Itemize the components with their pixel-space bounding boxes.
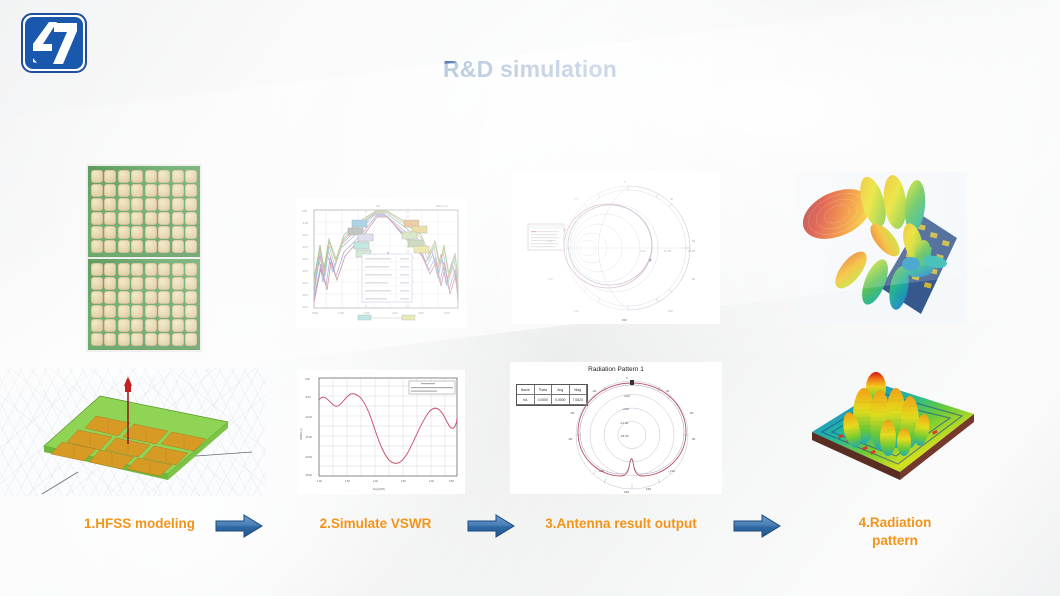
svg-text:-30: -30 xyxy=(592,389,597,393)
svg-text:-5.00: -5.00 xyxy=(305,396,311,399)
svg-text:S11: S11 xyxy=(376,204,381,208)
step-label-1: 1.HFSS modeling xyxy=(52,515,227,533)
svg-text:240: 240 xyxy=(548,239,553,243)
svg-text:2300: 2300 xyxy=(418,311,424,315)
s-parameter-plot-svg: 0.00-5.00-10.0 -15.0-20.0-25.0 -30.0-35.… xyxy=(296,198,466,328)
slide-canvas: R&D simulation xyxy=(0,0,1060,596)
svg-text:120: 120 xyxy=(670,469,675,473)
svg-text:-90: -90 xyxy=(568,437,573,441)
svg-text:1900: 1900 xyxy=(364,311,370,315)
svg-text:60: 60 xyxy=(692,239,696,243)
svg-text:1.50: 1.50 xyxy=(345,480,350,483)
svg-text:2.50: 2.50 xyxy=(401,480,406,483)
radiation-lobes-svg xyxy=(795,172,967,324)
svg-text:Freq [GHz]: Freq [GHz] xyxy=(373,488,385,491)
svg-text:-4.00: -4.00 xyxy=(622,407,629,411)
arrow-step1-to-step2 xyxy=(214,513,264,544)
smith-polar-chart: 0 306090 120150180 210240270 0.0010.0020… xyxy=(512,172,720,324)
radiation-polar-svg: 0 306090 120150180 -120-90-60 -30 3.00-4… xyxy=(510,362,722,494)
svg-text:210: 210 xyxy=(548,277,553,281)
heatmap-svg xyxy=(776,368,996,496)
svg-text:-10.00: -10.00 xyxy=(305,416,312,419)
smith-chart-svg: 0 306090 120150180 210240270 0.0010.0020… xyxy=(512,172,720,324)
svg-text:-20.00: -20.00 xyxy=(305,456,312,459)
radiation-pattern-polar-chart: Radiation Pattern 1 Name Theta Ang Mag m… xyxy=(510,362,722,494)
svg-text:-120: -120 xyxy=(598,469,604,473)
svg-text:10.00: 10.00 xyxy=(664,249,671,253)
svg-text:30: 30 xyxy=(670,197,674,201)
svg-text:270: 270 xyxy=(574,197,579,201)
svg-text:-11.00: -11.00 xyxy=(620,421,629,425)
svg-text:-20.0: -20.0 xyxy=(302,257,308,261)
pcb-panel-bottom xyxy=(88,259,200,350)
s-parameter-multitrace-chart: 0.00-5.00-10.0 -15.0-20.0-25.0 -30.0-35.… xyxy=(296,198,466,328)
svg-text:1500: 1500 xyxy=(312,311,318,315)
svg-text:-25.00: -25.00 xyxy=(305,474,312,477)
arrow-step3-to-step4 xyxy=(732,513,782,544)
vswr-return-loss-chart: 0.00-5.00-10.00 -15.00-20.00-25.00 1.001… xyxy=(297,370,465,494)
svg-text:dB(St(1,1)): dB(St(1,1)) xyxy=(300,428,303,440)
svg-text:3.00: 3.00 xyxy=(624,394,630,398)
svg-text:150: 150 xyxy=(622,318,627,322)
hfss-3d-model xyxy=(0,368,266,496)
pad-grid-bottom xyxy=(91,263,197,346)
svg-text:-30.0: -30.0 xyxy=(302,281,308,285)
svg-text:2500: 2500 xyxy=(444,311,450,315)
right-arrow-icon xyxy=(466,513,516,539)
svg-text:-60: -60 xyxy=(570,411,575,415)
svg-text:120: 120 xyxy=(668,309,673,313)
3d-radiation-heatmap xyxy=(776,368,996,496)
svg-text:180: 180 xyxy=(624,490,629,494)
svg-text:180: 180 xyxy=(574,309,579,313)
vswr-plot-svg: 0.00-5.00-10.00 -15.00-20.00-25.00 1.001… xyxy=(297,370,465,494)
step-label-2: 2.Simulate VSWR xyxy=(288,515,463,533)
right-arrow-icon xyxy=(214,513,264,539)
svg-text:2100: 2100 xyxy=(392,311,398,315)
svg-text:-40.0: -40.0 xyxy=(302,305,308,309)
svg-text:150: 150 xyxy=(646,487,651,491)
svg-text:-25.0: -25.0 xyxy=(302,269,308,273)
svg-text:0: 0 xyxy=(626,376,628,380)
svg-text:1.00: 1.00 xyxy=(317,480,322,483)
svg-text:0.00: 0.00 xyxy=(305,378,310,381)
svg-text:1700: 1700 xyxy=(338,311,344,315)
svg-text:-35.0: -35.0 xyxy=(302,293,308,297)
svg-text:3.00: 3.00 xyxy=(429,480,434,483)
svg-text:0.00: 0.00 xyxy=(302,209,308,213)
hfss-model-svg xyxy=(0,368,266,496)
svg-text:2.00: 2.00 xyxy=(373,480,378,483)
svg-text:90: 90 xyxy=(692,437,696,441)
svg-text:60: 60 xyxy=(690,411,694,415)
step-label-4: 4.Radiation pattern xyxy=(810,514,980,550)
svg-text:20.00: 20.00 xyxy=(688,249,695,253)
svg-text:3.50: 3.50 xyxy=(449,480,454,483)
svg-text:90: 90 xyxy=(692,277,696,281)
pcb-panel-photo xyxy=(86,164,202,352)
svg-text:-15.0: -15.0 xyxy=(302,245,308,249)
page-title: R&D simulation xyxy=(0,56,1060,83)
arrow-step2-to-step3 xyxy=(466,513,516,544)
svg-text:0.00: 0.00 xyxy=(640,249,646,253)
3d-radiation-lobe-plot xyxy=(795,172,967,324)
step-label-3: 3.Antenna result output xyxy=(516,515,726,533)
svg-text:-15.00: -15.00 xyxy=(305,436,312,439)
svg-text:30: 30 xyxy=(666,389,670,393)
pad-grid-top xyxy=(91,170,197,253)
right-arrow-icon xyxy=(732,513,782,539)
svg-text:-10.0: -10.0 xyxy=(302,233,308,237)
pcb-panel-top xyxy=(88,166,200,257)
svg-text:dB(S(1,1)): dB(S(1,1)) xyxy=(436,204,448,208)
svg-text:-5.00: -5.00 xyxy=(302,221,308,225)
svg-text:-18.00: -18.00 xyxy=(620,434,629,438)
